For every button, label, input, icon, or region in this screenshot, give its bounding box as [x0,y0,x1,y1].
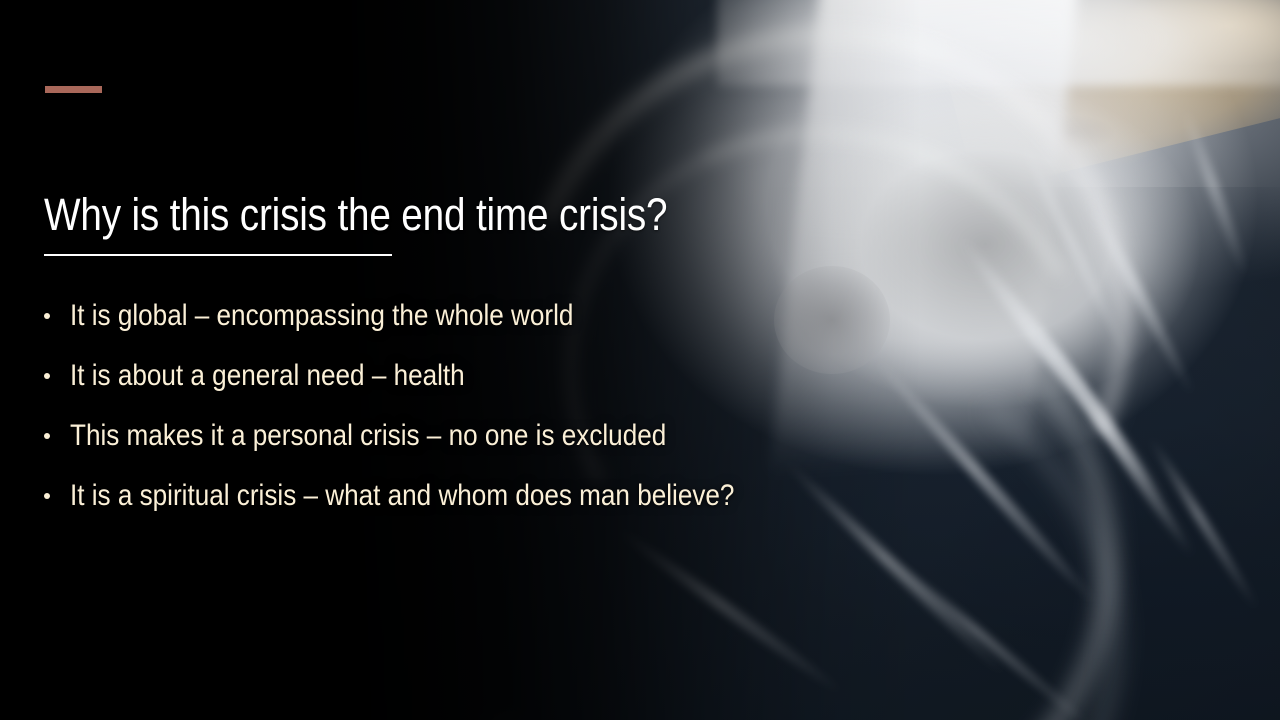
list-item-label: It is global – encompassing the whole wo… [70,286,573,346]
bullet-dot-icon [44,493,50,499]
bullet-list: It is global – encompassing the whole wo… [44,286,1224,526]
list-item-label: It is about a general need – health [70,346,465,406]
title-divider [44,254,392,256]
slide-content: Why is this crisis the end time crisis? … [0,0,1280,720]
list-item: This makes it a personal crisis – no one… [44,406,1224,466]
list-item-label: It is a spiritual crisis – what and whom… [70,466,734,526]
page-title: Why is this crisis the end time crisis? [44,187,667,243]
bullet-dot-icon [44,373,50,379]
bullet-dot-icon [44,433,50,439]
presentation-slide: Why is this crisis the end time crisis? … [0,0,1280,720]
accent-bar [45,86,102,93]
bullet-dot-icon [44,313,50,319]
list-item: It is about a general need – health [44,346,1224,406]
list-item: It is a spiritual crisis – what and whom… [44,466,1224,526]
list-item-label: This makes it a personal crisis – no one… [70,406,666,466]
list-item: It is global – encompassing the whole wo… [44,286,1224,346]
